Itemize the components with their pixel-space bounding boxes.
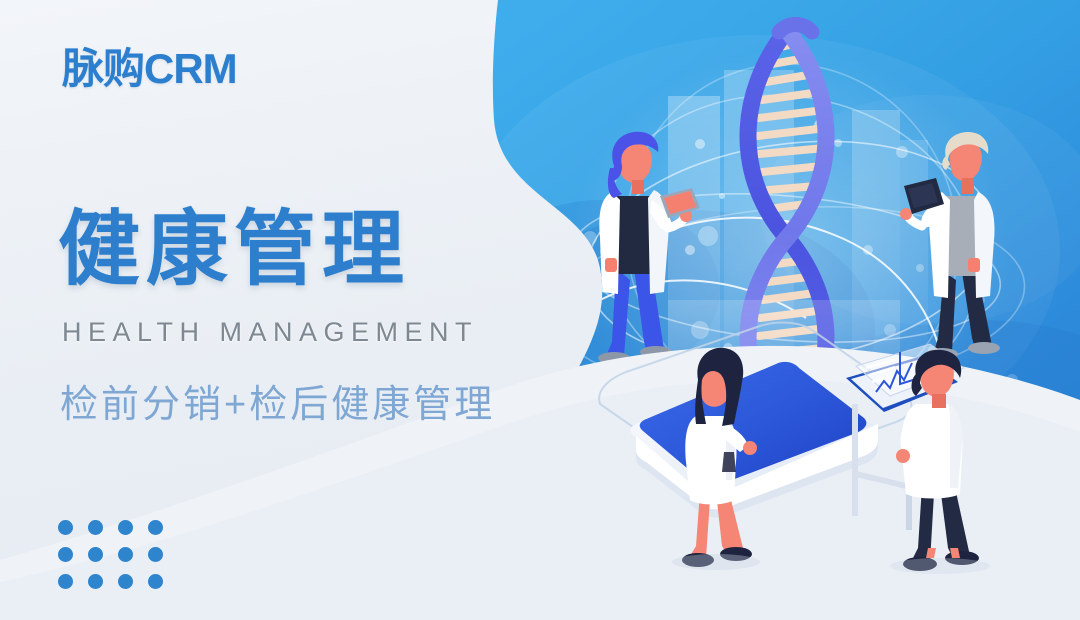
dot [118,520,133,535]
dot [58,574,73,589]
dot [88,520,103,535]
dot [118,574,133,589]
decorative-dot-grid [58,520,178,601]
dot [148,547,163,562]
dot [88,547,103,562]
dot [148,574,163,589]
health-management-banner: 脉购CRM 健康管理 HEALTH MANAGEMENT 检前分销+检后健康管理 [0,0,1080,620]
dot [88,574,103,589]
dot [118,547,133,562]
page-subtitle: HEALTH MANAGEMENT [62,317,478,348]
brand-logo: 脉购CRM [62,48,237,90]
dot [148,520,163,535]
dot [58,520,73,535]
dot [58,547,73,562]
page-title: 健康管理 [58,206,410,295]
page-tagline: 检前分销+检后健康管理 [60,373,495,428]
